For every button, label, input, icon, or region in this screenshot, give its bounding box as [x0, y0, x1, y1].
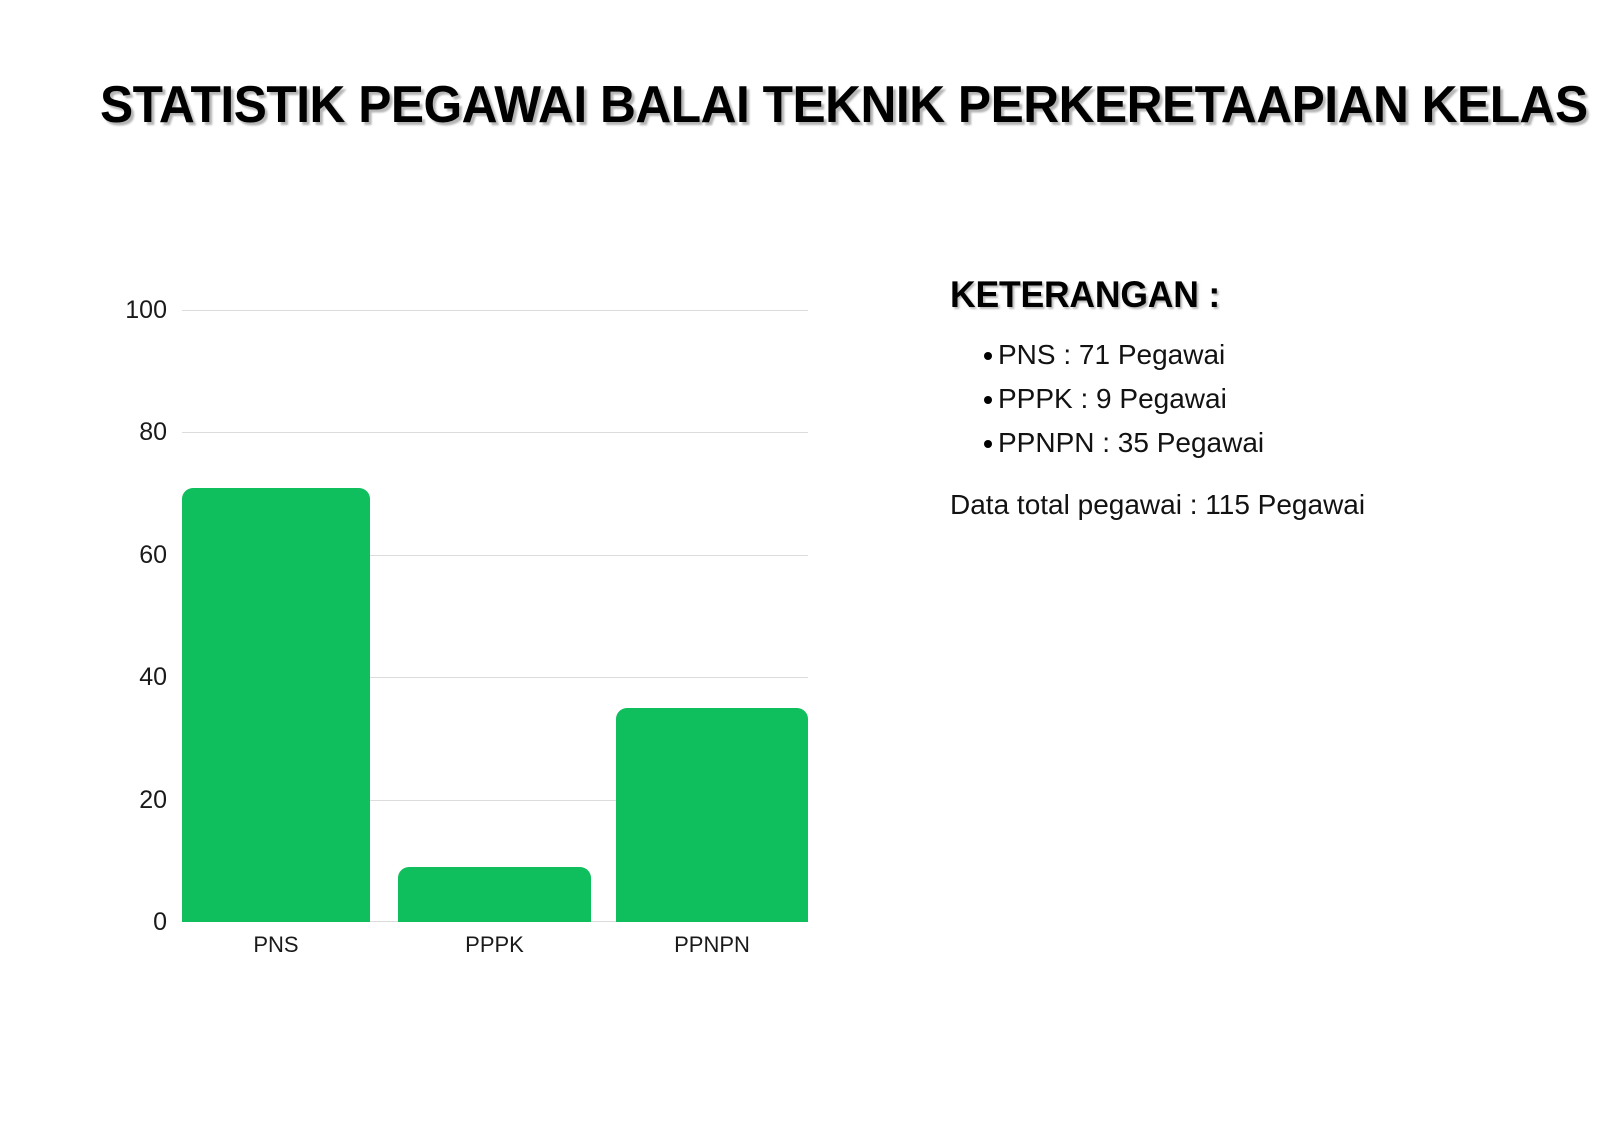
- list-item: PPNPN : 35 Pegawai: [950, 421, 1550, 465]
- y-tick-label: 40: [139, 665, 167, 690]
- bullet-icon: [984, 352, 992, 360]
- y-tick-label: 60: [139, 543, 167, 568]
- gridline-80: [182, 432, 808, 433]
- bullet-icon: [984, 396, 992, 404]
- y-tick-label: 80: [139, 420, 167, 445]
- keterangan-panel: KETERANGAN : PNS : 71 Pegawai PPPK : 9 P…: [950, 275, 1550, 523]
- total-pegawai-text: Data total pegawai : 115 Pegawai: [950, 487, 1550, 523]
- x-tick-label-ppnpn: PPNPN: [616, 934, 808, 956]
- list-item: PNS : 71 Pegawai: [950, 333, 1550, 377]
- x-tick-label-pns: PNS: [182, 934, 370, 956]
- x-tick-label-pppk: PPPK: [398, 934, 591, 956]
- y-tick-label: 100: [125, 298, 167, 323]
- bullet-icon: [984, 440, 992, 448]
- bar-chart: 100 80 60 40 20 0 PNS PPPK PPNPN: [0, 0, 900, 1131]
- list-item-label: PPNPN : 35 Pegawai: [998, 427, 1264, 458]
- list-item: PPPK : 9 Pegawai: [950, 377, 1550, 421]
- keterangan-heading: KETERANGAN :: [950, 275, 1526, 315]
- bar-ppnpn[interactable]: [616, 708, 808, 922]
- gridline-100: [182, 310, 808, 311]
- bar-pppk[interactable]: [398, 867, 591, 922]
- keterangan-list: PNS : 71 Pegawai PPPK : 9 Pegawai PPNPN …: [950, 333, 1550, 465]
- y-axis: 100 80 60 40 20 0: [110, 310, 167, 922]
- list-item-label: PNS : 71 Pegawai: [998, 339, 1225, 370]
- y-tick-label: 0: [153, 910, 167, 935]
- y-tick-label: 20: [139, 788, 167, 813]
- list-item-label: PPPK : 9 Pegawai: [998, 383, 1227, 414]
- plot-area: [182, 310, 808, 922]
- bar-pns[interactable]: [182, 488, 370, 923]
